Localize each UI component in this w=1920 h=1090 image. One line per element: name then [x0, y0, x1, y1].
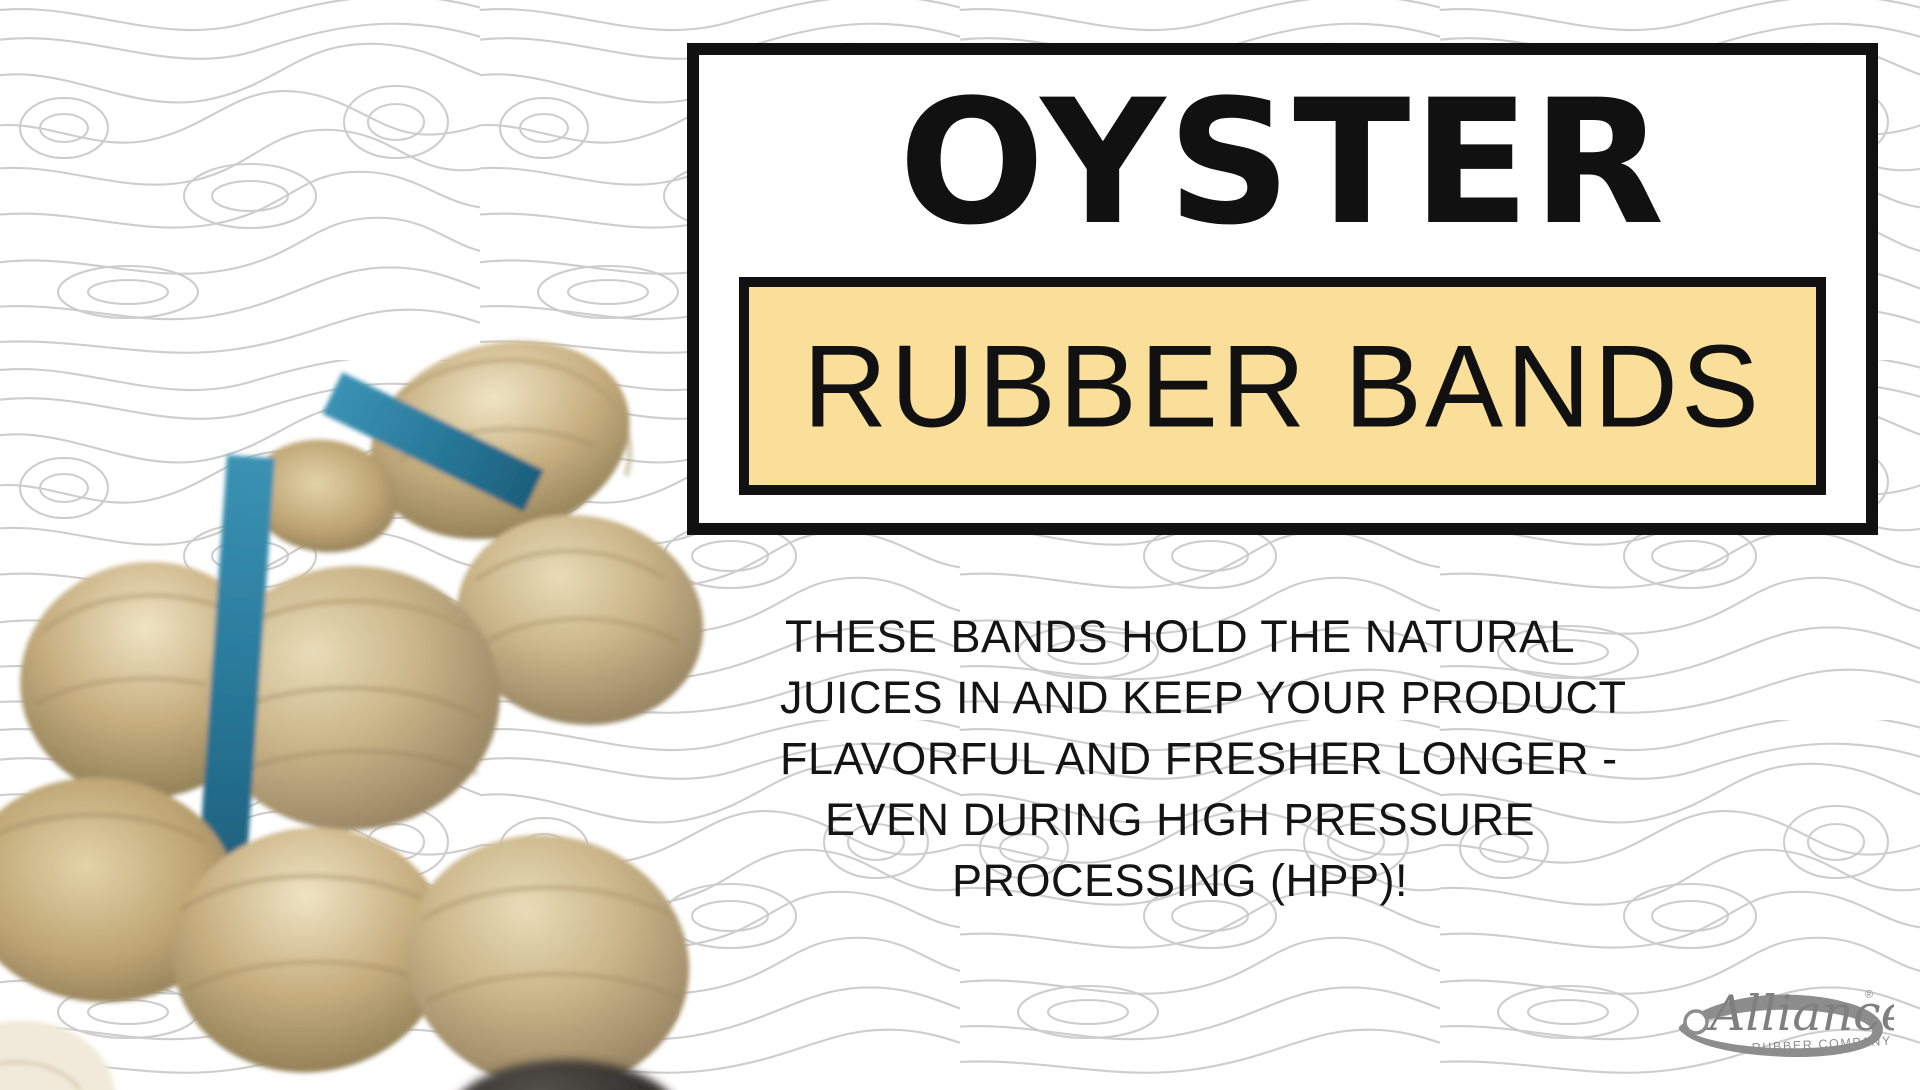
title-block: OYSTER RUBBER BANDS — [687, 43, 1878, 535]
body-copy-line: PROCESSING (HPP)! — [780, 850, 1580, 911]
page-title: OYSTER — [699, 63, 1866, 263]
body-copy-line: JUICES IN AND KEEP YOUR PRODUCT — [780, 667, 1580, 728]
page-subtitle: RUBBER BANDS — [749, 328, 1816, 445]
oyster-product-photo — [0, 290, 720, 1090]
alliance-rubber-company-logo: Alliance ® RUBBER COMPANY — [1674, 964, 1894, 1070]
body-copy-line: THESE BANDS HOLD THE NATURAL — [780, 606, 1580, 667]
body-copy: THESE BANDS HOLD THE NATURAL JUICES IN A… — [780, 606, 1580, 911]
body-copy-line: EVEN DURING HIGH PRESSURE — [780, 789, 1580, 850]
logo-registered-mark: ® — [1865, 989, 1873, 1001]
subtitle-highlight-box: RUBBER BANDS — [739, 277, 1826, 495]
body-copy-line: FLAVORFUL AND FRESHER LONGER - — [780, 728, 1580, 789]
